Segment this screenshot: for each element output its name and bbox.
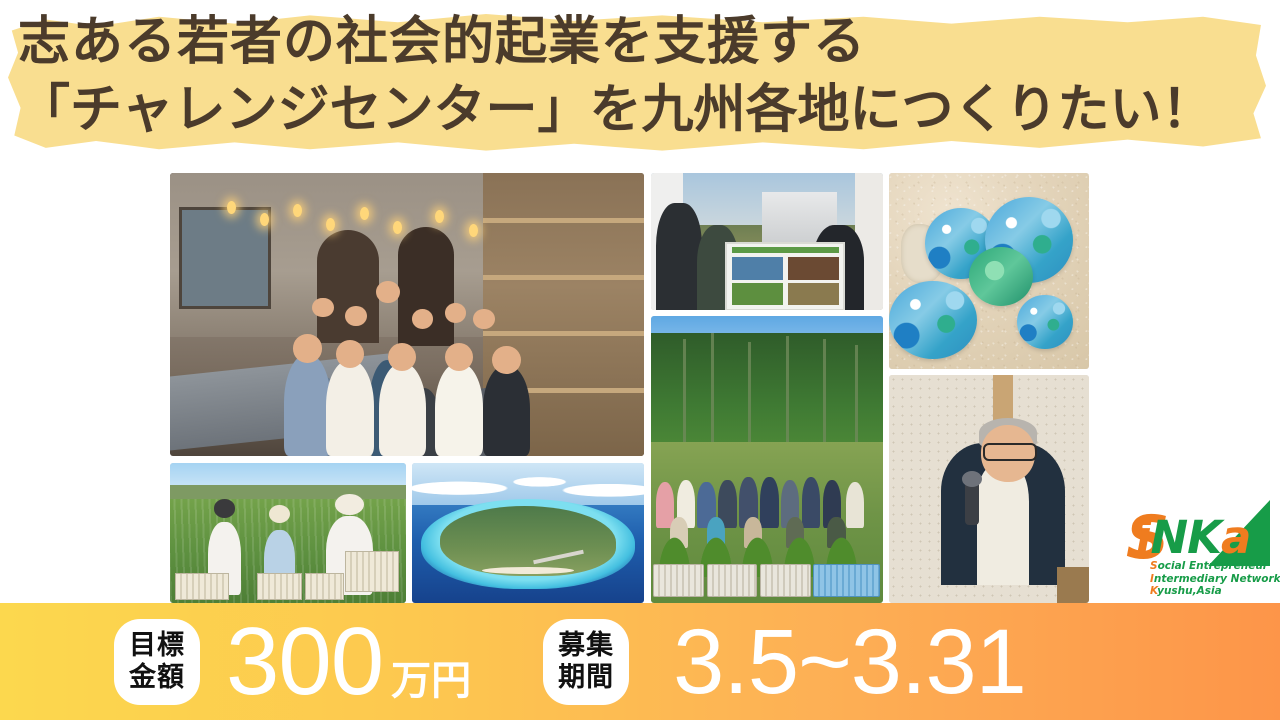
photo-recycled-plastic-discs bbox=[889, 173, 1089, 369]
photo-collage bbox=[0, 168, 1280, 603]
upcycled-disc bbox=[889, 281, 977, 359]
logo-tagline-line-1: Social Entrepreneur bbox=[1150, 560, 1280, 573]
goal-amount-number: 300 bbox=[226, 614, 383, 710]
campaign-period-label-pill: 募集 期間 bbox=[543, 619, 629, 705]
presentation-panel bbox=[725, 242, 845, 311]
glasses-icon bbox=[983, 443, 1037, 461]
upcycled-disc bbox=[969, 247, 1033, 306]
photo-aerial-island bbox=[412, 463, 644, 603]
logo-tagline-line-3: Kyushu,Asia bbox=[1150, 585, 1280, 598]
photo-speaker-with-microphone bbox=[889, 375, 1089, 603]
title-line-1: 志ある若者の社会的起業を支援する bbox=[18, 8, 1268, 76]
logo-letter-a: a bbox=[1221, 511, 1250, 564]
logo-tagline-line-2: Intermediary Network bbox=[1150, 573, 1280, 586]
goal-amount-unit: 万円 bbox=[391, 661, 471, 701]
seedling-crate bbox=[653, 564, 704, 598]
photo-presentation-board-outdoor bbox=[651, 173, 883, 310]
logo-wordmark: iNKa bbox=[1136, 514, 1250, 562]
produce-crate bbox=[257, 573, 301, 600]
seedling-crate bbox=[760, 564, 811, 598]
seedling-crate bbox=[813, 564, 880, 598]
logo-letters-nk: NK bbox=[1150, 511, 1221, 564]
title-lines: 志ある若者の社会的起業を支援する 「チャレンジセンター」を九州各地につくりたい！ bbox=[18, 8, 1268, 144]
participant-silhouette bbox=[656, 203, 702, 310]
produce-crate bbox=[175, 573, 229, 600]
cafe-window bbox=[179, 207, 270, 309]
sinka-logo: S iNKa Social Entrepreneur Intermediary … bbox=[1122, 500, 1274, 600]
period-label-line-1: 募集 bbox=[558, 630, 614, 662]
photo-group-photo-cafe bbox=[170, 173, 644, 456]
campaign-period-value: 3.5~3.31 bbox=[673, 614, 1026, 710]
island-landmass bbox=[440, 506, 616, 576]
photo-tree-planting-volunteers bbox=[651, 316, 883, 603]
cafe-arch-door bbox=[317, 230, 379, 343]
upcycled-disc bbox=[1017, 295, 1073, 350]
goal-amount-value: 300 万円 bbox=[226, 614, 471, 710]
logo-letter-i: i bbox=[1136, 511, 1150, 564]
period-label-line-2: 期間 bbox=[558, 662, 614, 694]
seedling-crate bbox=[707, 564, 758, 598]
produce-crate bbox=[305, 573, 345, 600]
goal-amount-label-pill: 目標 金額 bbox=[114, 619, 200, 705]
microphone-head-icon bbox=[962, 471, 982, 487]
title-line-2: 「チャレンジセンター」を九州各地につくりたい！ bbox=[18, 76, 1268, 144]
funding-summary-banner: 目標 金額 300 万円 募集 期間 3.5~3.31 bbox=[0, 603, 1280, 720]
goal-label-line-1: 目標 bbox=[129, 630, 185, 662]
photo-harvest-field-workers bbox=[170, 463, 406, 603]
logo-tagline: Social Entrepreneur Intermediary Network… bbox=[1150, 560, 1280, 598]
title-block: 志ある若者の社会的起業を支援する 「チャレンジセンター」を九州各地につくりたい！ bbox=[0, 0, 1280, 168]
goal-label-line-2: 金額 bbox=[129, 662, 185, 694]
produce-crate bbox=[345, 551, 399, 592]
